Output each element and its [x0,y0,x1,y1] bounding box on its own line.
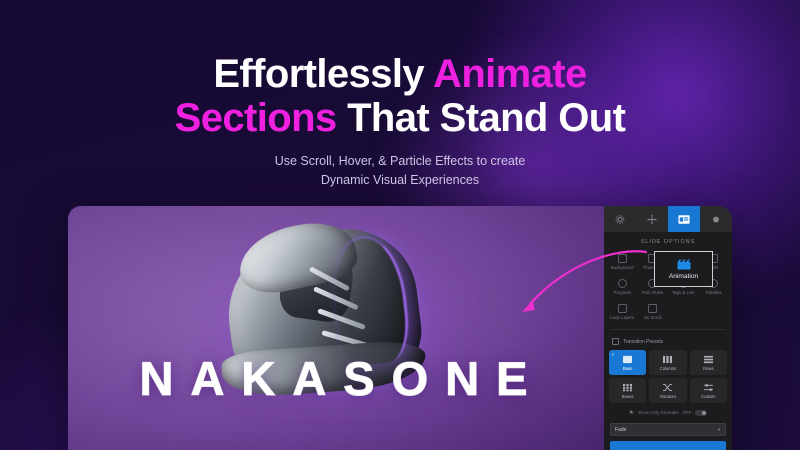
chevron-down-icon: ▼ [717,427,721,432]
option-label: Parallax [706,290,722,295]
hero-headline: Effortlessly Animate Sections That Stand… [0,52,800,190]
toggle-knob [702,411,706,415]
preset-rows[interactable]: Rows [690,350,727,375]
rows-icon [703,355,714,364]
transition-presets-grid: ✓ Base Columns [604,350,732,403]
preset-boxes[interactable]: Boxes [609,378,646,403]
presets-title: Transition Presets [623,339,663,345]
curved-arrow [500,246,650,326]
slide-options-panel: SLIDE OPTIONS Background Thumbnail Timel… [604,206,732,450]
headline-accent-2: Sections [175,96,337,140]
show-favorites-state: OFF [683,410,692,415]
preset-label: Boxes [622,394,634,399]
headline-line-2: Sections That Stand Out [0,96,800,140]
gear-icon [614,214,626,225]
headline-plain-2: That Stand Out [337,96,626,140]
presets-icon [612,338,619,345]
subtitle-line-2: Dynamic Visual Experiences [0,171,800,190]
check-icon: ✓ [611,352,615,358]
subtitle-line-1: Use Scroll, Hover, & Particle Effects to… [0,152,800,171]
preset-label: Rows [703,366,713,371]
panel-divider [610,329,726,330]
random-icon [662,383,673,392]
boxes-icon [622,383,633,392]
headline-line-1: Effortlessly Animate [0,52,800,96]
preset-label: Random [660,394,676,399]
tooltip-label: Animation [669,273,698,280]
apply-button[interactable] [610,441,726,450]
move-icon [646,214,658,225]
panel-toolbar [604,206,732,232]
preset-label: Custom [701,394,715,399]
transition-presets-header: Transition Presets [604,334,732,350]
show-favorites-toggle[interactable] [695,410,707,416]
toolbar-button-more[interactable] [700,206,732,232]
option-label: Tags & Link [672,290,694,295]
circle-icon [710,214,722,225]
preset-columns[interactable]: Columns [649,350,686,375]
toolbar-button-transform[interactable] [636,206,668,232]
base-icon [622,355,633,364]
transition-select[interactable]: Fade ▼ [610,423,726,436]
transition-select-value: Fade [615,427,626,433]
preset-label: Base [623,366,633,371]
columns-icon [662,355,673,364]
hero-subtitle: Use Scroll, Hover, & Particle Effects to… [0,152,800,190]
toolbar-button-settings[interactable] [604,206,636,232]
preset-base[interactable]: ✓ Base [609,350,646,375]
preset-random[interactable]: Random [649,378,686,403]
headline-accent-1: Animate [433,52,587,96]
editor-card: NAKASONE NAKASONE [68,206,732,450]
animation-tooltip[interactable]: Animation [654,251,713,287]
canvas-headline-outline: NAKASONE [74,355,610,402]
star-icon: ★ [629,409,634,416]
toolbar-button-slide[interactable] [668,206,700,232]
custom-icon [703,383,714,392]
film-clapper-icon [677,259,691,270]
show-favorites-label: Show Only Favorites [638,410,679,415]
slide-icon [678,214,690,225]
preset-custom[interactable]: Custom [690,378,727,403]
headline-plain-1: Effortlessly [213,52,433,96]
preset-label: Columns [660,366,677,371]
slide-canvas[interactable]: NAKASONE NAKASONE [68,206,604,450]
hero-stage: Effortlessly Animate Sections That Stand… [0,0,800,450]
show-favorites-row[interactable]: ★ Show Only Favorites OFF [604,403,732,421]
